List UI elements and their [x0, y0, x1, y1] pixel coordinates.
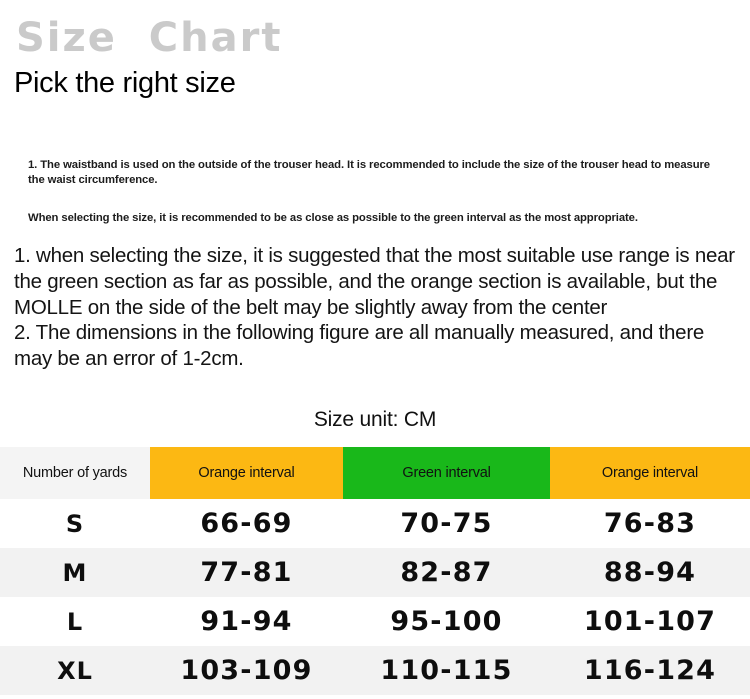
cell-m-green: 82-87 [343, 548, 550, 597]
table-row: M 77-81 82-87 88-94 [0, 548, 750, 597]
column-header-orange-interval-left: Orange interval [150, 447, 343, 499]
table-header: Number of yards Orange interval Green in… [0, 447, 750, 499]
table-row: L 91-94 95-100 101-107 [0, 597, 750, 646]
cell-m-orange-left: 77-81 [150, 548, 343, 597]
note-green-interval: When selecting the size, it is recommend… [28, 211, 718, 226]
cell-s-orange-left: 66-69 [150, 499, 343, 548]
cell-s-green: 70-75 [343, 499, 550, 548]
page-subtitle: Pick the right size [14, 68, 236, 100]
cell-m-orange-right: 88-94 [550, 548, 750, 597]
size-unit-label: Size unit: CM [0, 408, 750, 432]
main-note-block: 1. when selecting the size, it is sugges… [14, 243, 740, 372]
note-spacer [28, 189, 718, 211]
size-chart-table: Number of yards Orange interval Green in… [0, 447, 750, 695]
cell-size-xl: XL [0, 646, 150, 695]
main-note-item-2: 2. The dimensions in the following figur… [14, 320, 740, 372]
cell-s-orange-right: 76-83 [550, 499, 750, 548]
cell-l-green: 95-100 [343, 597, 550, 646]
column-header-number-of-yards: Number of yards [0, 447, 150, 499]
main-note-item-1: 1. when selecting the size, it is sugges… [14, 243, 740, 320]
notes-block: 1. The waistband is used on the outside … [28, 158, 718, 226]
size-chart-page: Size Chart Pick the right size 1. The wa… [0, 0, 750, 699]
note-waistband: 1. The waistband is used on the outside … [28, 158, 718, 189]
column-header-orange-interval-right: Orange interval [550, 447, 750, 499]
cell-size-m: M [0, 548, 150, 597]
column-header-green-interval: Green interval [343, 447, 550, 499]
cell-xl-green: 110-115 [343, 646, 550, 695]
cell-xl-orange-left: 103-109 [150, 646, 343, 695]
cell-size-s: S [0, 499, 150, 548]
cell-size-l: L [0, 597, 150, 646]
table-header-row: Number of yards Orange interval Green in… [0, 447, 750, 499]
table-body: S 66-69 70-75 76-83 M 77-81 82-87 88-94 … [0, 499, 750, 695]
brand-title: Size Chart [16, 18, 282, 58]
cell-l-orange-right: 101-107 [550, 597, 750, 646]
table-row: XL 103-109 110-115 116-124 [0, 646, 750, 695]
cell-l-orange-left: 91-94 [150, 597, 343, 646]
cell-xl-orange-right: 116-124 [550, 646, 750, 695]
table-row: S 66-69 70-75 76-83 [0, 499, 750, 548]
